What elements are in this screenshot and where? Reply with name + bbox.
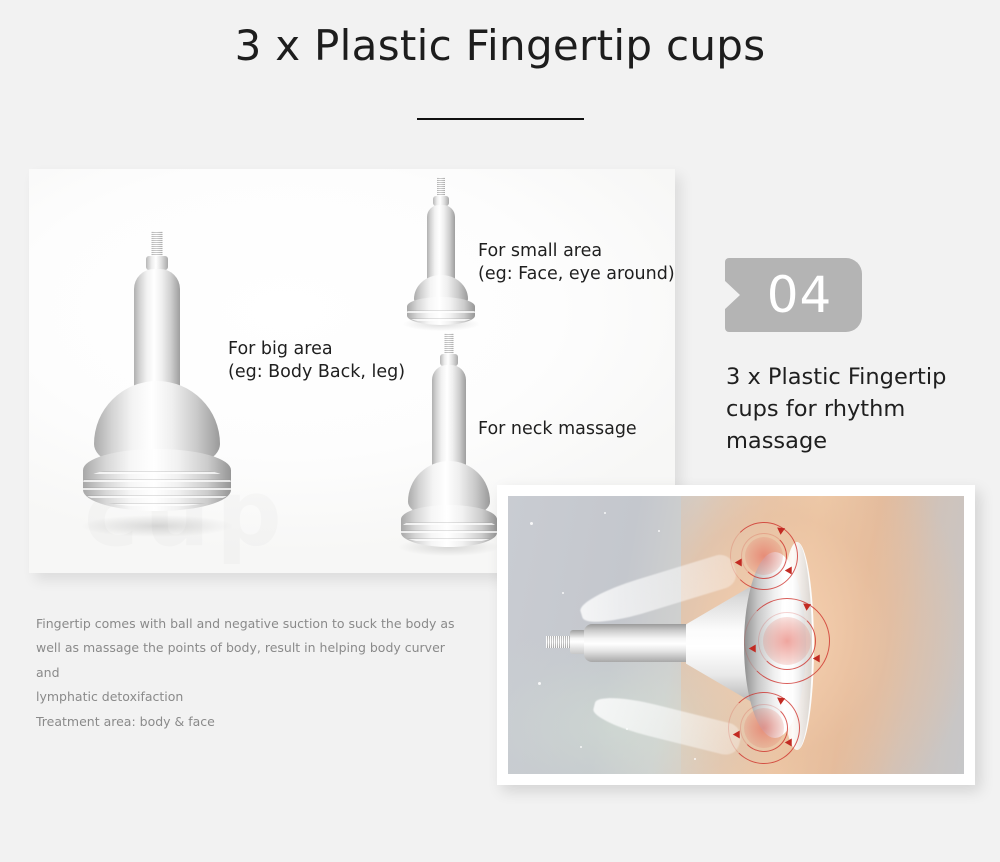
cup-small: [401, 177, 481, 327]
sparkle-dot: [658, 530, 660, 532]
caption-line-4: Treatment area: body & face: [36, 710, 456, 734]
sparkle-dot: [562, 592, 564, 594]
step-number: 04: [755, 270, 833, 320]
inset-photo-frame: [497, 485, 975, 785]
cup-small-base: [407, 297, 475, 325]
swirl-ring-inner: [741, 533, 787, 579]
chevron-right-icon: [724, 280, 740, 310]
cup-large: [77, 231, 237, 531]
caption-line-3: lymphatic detoxifaction: [36, 685, 456, 709]
massage-swirl-bottom: [728, 692, 800, 764]
cup-large-base: [83, 449, 231, 511]
cup-small-nozzle: [437, 177, 445, 197]
step-description: 3 x Plastic Fingertip cups for rhythm ma…: [726, 361, 978, 458]
title-divider: [417, 118, 584, 120]
sparkle-dot: [580, 746, 582, 748]
callout-big-area: For big area (eg: Body Back, leg): [228, 338, 405, 385]
massage-swirl-middle: [744, 598, 830, 684]
step-number-badge: 04: [725, 258, 862, 332]
caption-block: Fingertip comes with ball and negative s…: [36, 612, 456, 734]
cup-large-collar: [146, 256, 168, 270]
caption-line-2: well as massage the points of body, resu…: [36, 636, 456, 685]
sparkle-dot: [604, 512, 606, 514]
cup-small-body: [427, 205, 455, 283]
caption-line-1: Fingertip comes with ball and negative s…: [36, 612, 456, 636]
massage-swirl-top: [730, 522, 798, 590]
sparkle-dot: [538, 682, 541, 685]
cup-medium-base: [401, 505, 497, 547]
sparkle-dot: [694, 758, 696, 760]
cup-large-body: [134, 269, 180, 391]
cup-medium: [397, 333, 501, 551]
cup-large-nozzle: [152, 231, 163, 257]
swirl-ring-inner: [758, 612, 817, 671]
cup-medium-body: [432, 365, 466, 469]
sparkle-dot: [530, 522, 533, 525]
cup-medium-nozzle: [445, 333, 454, 355]
infographic-page: 3 x Plastic Fingertip cups cup: [0, 0, 1000, 862]
cup-large-shadow: [82, 515, 232, 537]
page-title: 3 x Plastic Fingertip cups: [0, 20, 1000, 73]
photo-cup-nozzle: [546, 636, 572, 648]
inset-photo: [508, 496, 964, 774]
callout-neck-massage: For neck massage: [478, 418, 637, 441]
callout-small-area: For small area (eg: Face, eye around): [478, 240, 675, 287]
